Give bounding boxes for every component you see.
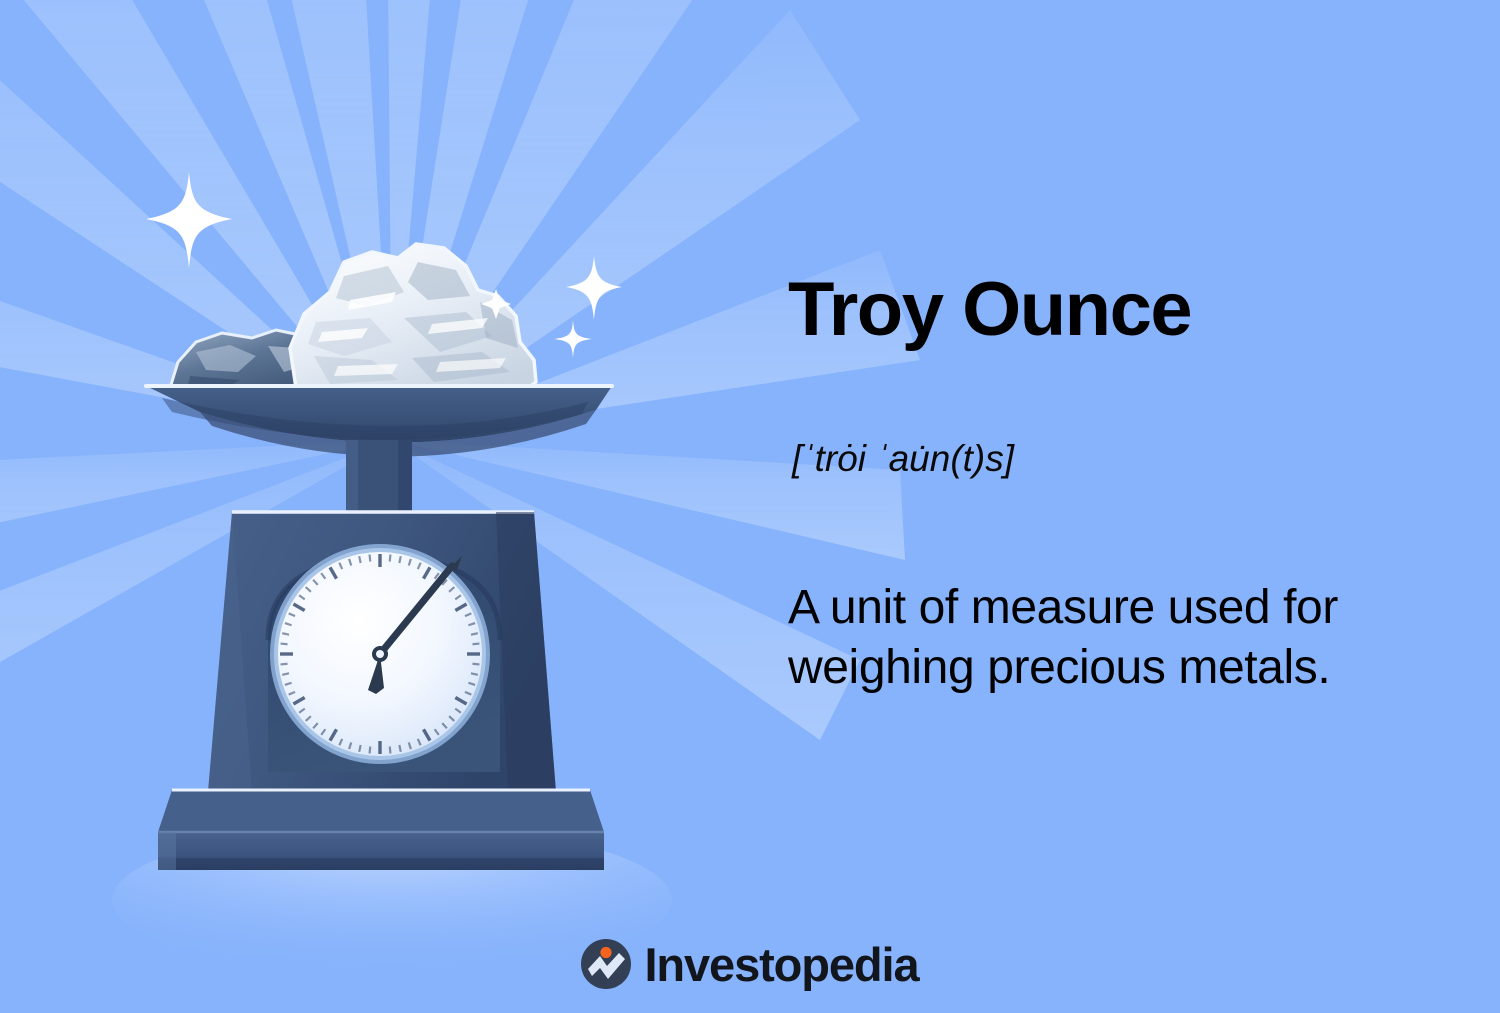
brand-name: Investopedia [644,941,918,988]
weighing-scale-graphic [0,0,760,1013]
definition-text: A unit of measure used for weighing prec… [788,578,1460,697]
scale-column [346,440,412,518]
investopedia-logo-icon [581,939,631,989]
definition-text-column: Troy Ounce [ˈtrȯi ˈau̇n(t)s] A unit of m… [788,0,1460,1013]
scale-base [158,790,604,870]
scale-dial [270,544,490,764]
brand-footer: Investopedia [0,939,1500,989]
infographic-canvas: Troy Ounce [ˈtrȯi ˈau̇n(t)s] A unit of m… [0,0,1500,1013]
nugget-large-silver [290,244,536,388]
page-title: Troy Ounce [788,272,1191,348]
pronunciation-text: [ˈtrȯi ˈau̇n(t)s] [792,440,1014,477]
scale-illustration [0,0,760,1013]
